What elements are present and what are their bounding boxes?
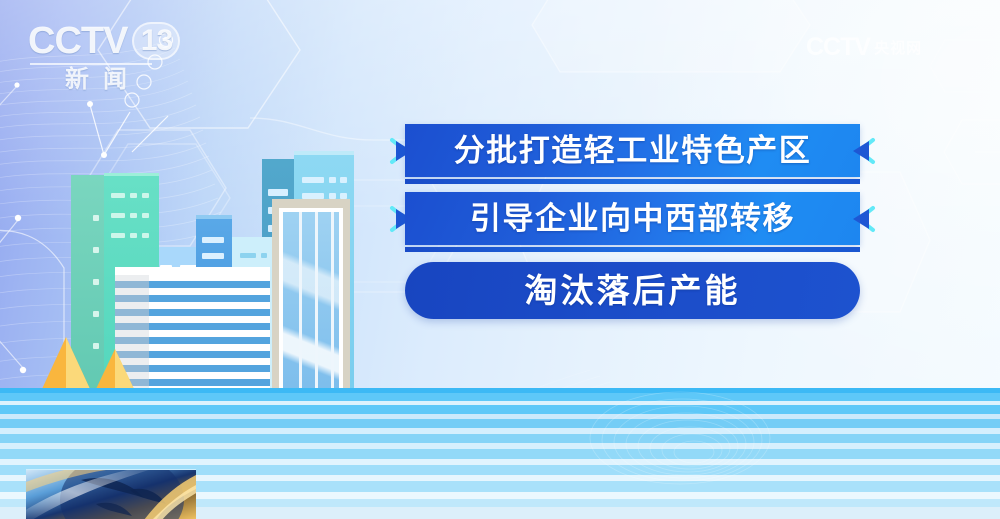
broadcast-frame: 分批打造轻工业特色产区 引导企业向中西部转移 淘汰落后产能 [0, 0, 1000, 519]
watermark-cn: 央视网 [874, 37, 922, 58]
channel-logo-number: 13 [132, 22, 180, 60]
headline-banner-3-text: 淘汰落后产能 [525, 274, 741, 307]
stripe-moire-overlay [560, 388, 900, 519]
channel-logo-subtitle: 新闻 [28, 68, 178, 92]
tree-large [42, 333, 90, 395]
headline-banner-2-body: 引导企业向中西部转移 [405, 192, 860, 245]
headline-banner-2[interactable]: 引导企业向中西部转移 [405, 192, 860, 245]
channel-logo-rule [30, 63, 152, 65]
headline-banner-2-text: 引导企业向中西部转移 [470, 203, 795, 234]
watermark-cctv: CCTV [806, 33, 870, 62]
headline-banner-1-text: 分批打造轻工业特色产区 [454, 135, 812, 166]
cctv-watermark: CCTV 央视网 [806, 30, 981, 64]
building-glass-tower [272, 199, 350, 395]
channel-logo-cctv: CCTV [28, 22, 127, 60]
headline-banner-1-body: 分批打造轻工业特色产区 [405, 124, 860, 177]
channel-logo-wordmark: CCTV 13 [28, 22, 178, 60]
building-striped-front [115, 267, 270, 395]
city-skyline-illustration [0, 95, 420, 395]
headline-banner-1[interactable]: 分批打造轻工业特色产区 [405, 124, 860, 177]
globe-graphic [26, 469, 196, 519]
headline-banner-3[interactable]: 淘汰落后产能 [405, 262, 860, 319]
channel-logo: CCTV 13 新闻 [28, 22, 178, 84]
left-arrow-icon [844, 202, 878, 236]
left-arrow-icon [844, 134, 878, 168]
